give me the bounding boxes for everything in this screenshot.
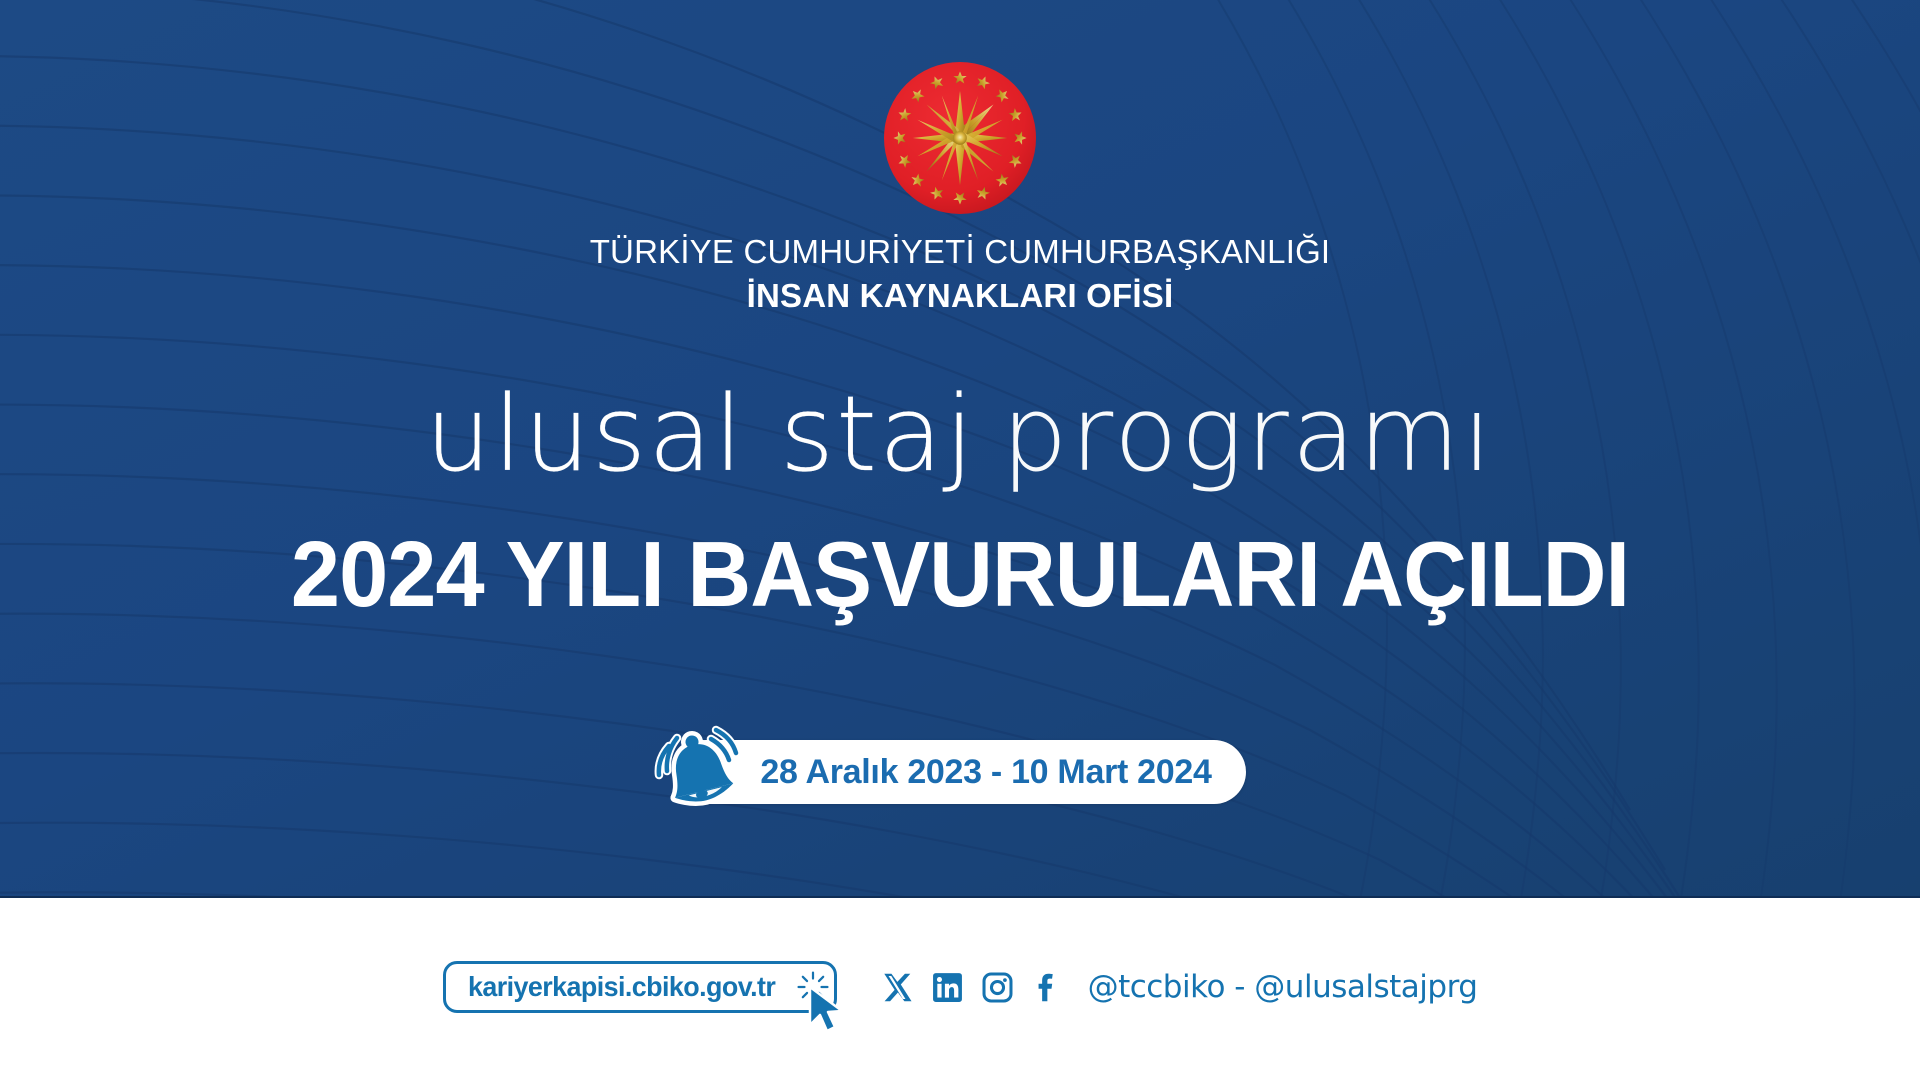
x-twitter-icon[interactable] bbox=[881, 971, 914, 1004]
program-title-secondary: programı bbox=[1001, 373, 1494, 495]
turkish-presidency-emblem bbox=[884, 62, 1036, 214]
date-pill: 28 Aralık 2023 - 10 Mart 2024 bbox=[674, 740, 1245, 804]
poster-root: TÜRKİYE CUMHURİYETİ CUMHURBAŞKANLIĞI İNS… bbox=[0, 0, 1920, 1080]
date-pill-group: 28 Aralık 2023 - 10 Mart 2024 bbox=[674, 740, 1245, 804]
social-handles-text: @tccbiko - @ulusalstajprg bbox=[1088, 969, 1478, 1005]
program-title: ulusal staj programı bbox=[0, 382, 1920, 486]
click-cursor-icon bbox=[804, 984, 850, 1036]
blue-hero-panel: TÜRKİYE CUMHURİYETİ CUMHURBAŞKANLIĞI İNS… bbox=[0, 0, 1920, 898]
instagram-icon[interactable] bbox=[981, 971, 1014, 1004]
announcement-headline: 2024 YILI BAŞVURULARI AÇILDI bbox=[48, 528, 1872, 621]
org-name-line2: İNSAN KAYNAKLARI OFİSİ bbox=[0, 276, 1920, 316]
website-url-button[interactable]: kariyerkapisi.cbiko.gov.tr bbox=[443, 961, 837, 1013]
social-icons-group bbox=[881, 971, 1064, 1004]
date-range-text: 28 Aralık 2023 - 10 Mart 2024 bbox=[760, 753, 1211, 792]
organization-block: TÜRKİYE CUMHURİYETİ CUMHURBAŞKANLIĞI İNS… bbox=[0, 232, 1920, 317]
facebook-icon[interactable] bbox=[1031, 971, 1064, 1004]
bell-icon bbox=[650, 722, 750, 822]
website-url-text: kariyerkapisi.cbiko.gov.tr bbox=[468, 971, 775, 1003]
linkedin-icon[interactable] bbox=[931, 971, 964, 1004]
program-title-primary: ulusal staj bbox=[425, 373, 975, 495]
date-range-row: 28 Aralık 2023 - 10 Mart 2024 bbox=[0, 740, 1920, 804]
org-name-line1: TÜRKİYE CUMHURİYETİ CUMHURBAŞKANLIĞI bbox=[0, 232, 1920, 272]
footer-bar: kariyerkapisi.cbiko.gov.tr bbox=[0, 898, 1920, 1080]
footer-content: kariyerkapisi.cbiko.gov.tr bbox=[443, 961, 1478, 1013]
click-burst-icon bbox=[796, 970, 830, 1004]
